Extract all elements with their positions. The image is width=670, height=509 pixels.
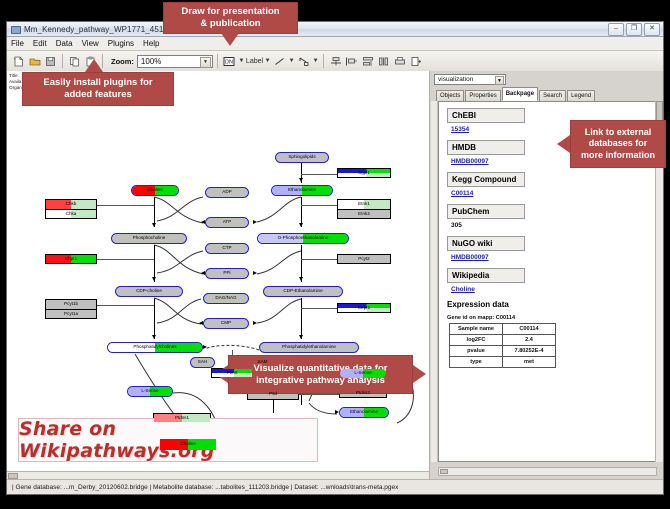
node-phosphatidylcholines[interactable]: Phosphatidylcholines: [107, 342, 203, 353]
menu-item-file[interactable]: File: [11, 39, 24, 48]
toolbar-separator: [217, 54, 218, 68]
cell-key: log2FC: [450, 335, 503, 346]
chevron-down-icon[interactable]: ▼: [312, 58, 319, 64]
node-label: SAM: [258, 360, 268, 365]
connector-sgpl1: [301, 174, 337, 175]
arrowhead: [203, 345, 207, 349]
table-row: pvalue 7.80252E-4: [450, 346, 556, 357]
screenshot-root: Mm_Kennedy_pathway_WP1771_45176.gpml – ❐…: [0, 0, 670, 509]
connector-cept1: [301, 308, 337, 309]
menu-item-plugins[interactable]: Plugins: [108, 39, 134, 48]
node-label: Ptdss2: [356, 391, 370, 396]
node-sgpl1[interactable]: Sgpl1: [337, 168, 391, 178]
cell-value: met: [503, 357, 556, 368]
node-label: Pcyt1a: [64, 312, 78, 317]
zoom-value: 100%: [141, 57, 161, 66]
node-label: Phosphatidylethanolamine: [282, 345, 336, 350]
connector-etnk: [301, 205, 337, 206]
toolbar-separator: [62, 54, 63, 68]
arrowhead: [201, 220, 205, 224]
node-pcyt1a[interactable]: Pcyt1a: [45, 309, 97, 319]
cell-key: type: [450, 357, 503, 368]
arrowhead: [253, 220, 257, 224]
node-label: Sgpl1: [358, 171, 370, 176]
label-tool-button[interactable]: Label: [246, 58, 263, 65]
node-label: Pemt: [227, 371, 238, 376]
callout-draw-tail: [221, 33, 239, 46]
visualization-value: visualization: [438, 76, 473, 83]
node-label: CMP: [221, 321, 231, 326]
status-bar-text: | Gene database: ...m_Derby_20120602.bri…: [12, 484, 398, 491]
node-label: ADP: [222, 190, 231, 195]
chevron-down-icon[interactable]: ▼: [495, 76, 504, 85]
node-choline-selected[interactable]: Choline: [159, 438, 217, 451]
connector-pcyt1: [97, 305, 154, 306]
menu-item-edit[interactable]: Edit: [33, 39, 47, 48]
node-label: Cept1: [358, 306, 370, 311]
node-label: Etnk2: [358, 212, 370, 217]
node-atp[interactable]: ATP: [205, 217, 249, 228]
arrowhead: [253, 271, 257, 275]
callout-plugins-line2: added features: [64, 89, 132, 101]
cell-value: 7.80252E-4: [503, 346, 556, 357]
tab-search[interactable]: Search: [539, 90, 566, 101]
table-row: type met: [450, 357, 556, 368]
db-name-pubchem: PubChem: [447, 204, 525, 219]
align-distribute-icon[interactable]: [360, 54, 375, 69]
node-cmp[interactable]: CMP: [203, 318, 249, 329]
cell-value: C00114: [503, 324, 556, 335]
side-panel-left-scroll[interactable]: [431, 101, 438, 462]
arrowhead: [299, 335, 303, 339]
chevron-down-icon[interactable]: ▼: [238, 58, 245, 64]
node-pcyt1b[interactable]: Pcyt1b: [45, 299, 97, 309]
node-label: Psd: [269, 392, 277, 397]
window-controls: – ❐ ✕: [608, 23, 660, 36]
callout-links: Link to external databases for more info…: [570, 120, 666, 168]
arrowhead: [201, 271, 205, 275]
node-label: Pcyt1b: [64, 302, 78, 307]
close-button[interactable]: ✕: [644, 23, 660, 36]
tab-backpage[interactable]: Backpage: [502, 87, 538, 101]
node-o-phosphoethanolamine[interactable]: O-Phosphoethanolamine: [257, 233, 349, 244]
line-tool-icon[interactable]: [272, 54, 287, 69]
toolbar: Zoom: 100% ▼ DN ▼ Label ▼ ▼ ▼: [7, 51, 663, 72]
node-chkb[interactable]: Chkb: [45, 199, 97, 209]
connector-chpt1: [97, 259, 154, 260]
node-chka[interactable]: Chka: [45, 209, 97, 219]
align-left-icon[interactable]: [344, 54, 359, 69]
node-ethanolamine[interactable]: Ethanolamine: [271, 185, 333, 196]
backpage-horizontal-scrollbar[interactable]: [438, 467, 657, 476]
zoom-combobox[interactable]: 100% ▼: [137, 55, 213, 68]
toolbar-separator: [323, 54, 324, 68]
connector-ptdss2: [299, 394, 339, 395]
shape-tool-icon[interactable]: [296, 54, 311, 69]
svg-text:DN: DN: [225, 59, 233, 65]
node-label: DAG/NAG: [215, 296, 236, 301]
arrowhead: [199, 321, 203, 325]
node-ptdss1[interactable]: Ptdss1: [153, 413, 211, 423]
node-label: Chka: [66, 212, 77, 217]
node-label: CDP-choline: [136, 289, 162, 294]
node-l-serine-right[interactable]: L-Serine: [339, 368, 387, 379]
node-label: ATP: [223, 220, 232, 225]
arrowhead: [299, 178, 303, 182]
db-link-kegg-compound[interactable]: C00114: [451, 190, 648, 197]
callout-draw-line1: Draw for presentation: [181, 6, 279, 18]
node-cdp-choline[interactable]: CDP-choline: [115, 286, 183, 297]
callout-draw-line2: & publication: [200, 18, 260, 30]
callout-plugins: Easily install plugins for added feature…: [22, 72, 174, 106]
save-icon[interactable]: [43, 54, 58, 69]
menu-bar: File Edit Data View Plugins Help: [7, 37, 663, 51]
table-row: log2FC 2.4: [450, 335, 556, 346]
node-choline-top[interactable]: Choline: [131, 185, 179, 196]
db-name-nugo-wiki: NuGO wiki: [447, 236, 525, 251]
node-chpt1-left[interactable]: Chpt1: [45, 254, 97, 264]
arrowhead: [299, 223, 303, 227]
node-ppi[interactable]: PPi: [205, 268, 249, 279]
scrollbar-thumb[interactable]: [440, 469, 448, 474]
cell-key: Sample name: [450, 324, 503, 335]
node-ctp[interactable]: CTP: [205, 243, 249, 254]
node-label: L-Serine: [354, 371, 371, 376]
callout-plugins-tail: [85, 59, 103, 72]
node-label: PPi: [223, 271, 230, 276]
side-panel-tabs: Objects Properties Backpage Search Legen…: [436, 89, 659, 101]
new-file-icon[interactable]: [11, 54, 26, 69]
node-label: Ethanolamine: [350, 410, 378, 415]
node-label: Ptdss1: [175, 416, 189, 421]
db-value-pubchem: 305: [451, 222, 648, 229]
db-name-kegg-compound: Kegg Compound: [447, 172, 525, 187]
node-label: Ethanolamine: [288, 188, 316, 193]
app-window-icon: [10, 24, 20, 34]
node-label: CDP-Ethanolamine: [283, 289, 322, 294]
node-etnk1[interactable]: Etnk1: [337, 199, 391, 209]
print-icon[interactable]: [392, 54, 407, 69]
node-cdp-ethanolamine[interactable]: CDP-Ethanolamine: [263, 286, 343, 297]
menu-item-help[interactable]: Help: [143, 39, 159, 48]
node-dag-nag[interactable]: DAG/NAG: [203, 293, 249, 304]
db-name-wikipedia: Wikipedia: [447, 268, 525, 283]
node-sphingolipids[interactable]: Sphingolipids: [275, 152, 329, 163]
copy-icon[interactable]: [67, 54, 82, 69]
node-label: Etnk1: [358, 202, 370, 207]
callout-visualize-tail-right: [413, 365, 426, 383]
tab-properties[interactable]: Properties: [465, 90, 500, 101]
node-label: Pcyt2: [358, 257, 370, 262]
tab-objects[interactable]: Objects: [436, 90, 464, 101]
node-cept1[interactable]: Cept1: [337, 303, 391, 313]
node-label: Chkb: [66, 202, 77, 207]
export-icon[interactable]: [408, 54, 423, 69]
db-name-hmdb: HMDB: [447, 140, 525, 155]
cell-key: pvalue: [450, 346, 503, 357]
node-label: Sphingolipids: [288, 155, 315, 160]
title-bar: Mm_Kennedy_pathway_WP1771_45176.gpml – ❐…: [7, 22, 663, 37]
arrowhead: [299, 277, 303, 281]
tab-legend[interactable]: Legend: [567, 90, 595, 101]
maximize-button[interactable]: ❐: [626, 23, 642, 36]
node-sah[interactable]: SAH: [190, 357, 215, 368]
visualization-select[interactable]: visualization ▼: [434, 74, 506, 85]
node-label: Phosphocholine: [133, 236, 166, 241]
node-pcyt2[interactable]: Pcyt2: [337, 254, 391, 264]
node-label: Choline: [147, 188, 163, 193]
node-label: L-Serine: [141, 389, 158, 394]
edge-cdpeth-ptdeth: [301, 298, 302, 339]
node-ethanolamine-bottom[interactable]: Ethanolamine: [339, 407, 389, 418]
chevron-down-icon[interactable]: ▼: [264, 58, 271, 64]
connector-chk: [97, 205, 154, 206]
node-label: SAH: [198, 360, 207, 365]
db-link-nugo-wiki[interactable]: HMDB00097: [451, 254, 648, 261]
node-label: Chpt1: [65, 257, 77, 262]
expression-data-header: Expression data: [447, 300, 648, 309]
db-name-chebi: ChEBI: [447, 108, 525, 123]
db-link-wikipedia[interactable]: Choline: [451, 286, 648, 293]
callout-links-line3: more information: [581, 150, 655, 161]
node-label: O-Phosphoethanolamine: [278, 236, 329, 241]
node-label: CTP: [222, 246, 231, 251]
connector-pcyt2: [301, 259, 337, 260]
gene-id-label: Gene id on mapp: C00114: [447, 315, 648, 321]
chevron-down-icon[interactable]: ▼: [200, 57, 211, 68]
callout-links-tail: [557, 135, 570, 153]
callout-links-line2: databases for: [589, 138, 648, 149]
arrowhead: [253, 321, 257, 325]
node-pemt[interactable]: Pemt: [211, 368, 253, 378]
callout-plugins-line1: Easily install plugins for: [43, 77, 152, 89]
status-bar: | Gene database: ...m_Derby_20120602.bri…: [7, 479, 663, 494]
node-phosphocholine[interactable]: Phosphocholine: [111, 233, 187, 244]
align-width-icon[interactable]: [376, 54, 391, 69]
datanode-tool-icon[interactable]: DN: [222, 54, 237, 69]
node-label: Phosphatidylcholines: [133, 345, 176, 350]
expression-table: Sample name C00114 log2FC 2.4 pvalue 7.8…: [449, 323, 556, 368]
callout-links-line1: Link to external: [585, 127, 652, 138]
menu-item-view[interactable]: View: [82, 39, 99, 48]
minimize-button[interactable]: –: [608, 23, 624, 36]
chevron-down-icon[interactable]: ▼: [288, 58, 295, 64]
cell-value: 2.4: [503, 335, 556, 346]
arrowhead: [335, 410, 339, 414]
table-row: Sample name C00114: [450, 324, 556, 335]
zoom-label: Zoom:: [111, 57, 134, 66]
node-l-serine-left[interactable]: L-Serine: [127, 386, 173, 397]
menu-item-data[interactable]: Data: [56, 39, 73, 48]
callout-draw: Draw for presentation & publication: [163, 2, 298, 34]
node-phosphatidylethanolamine[interactable]: Phosphatidylethanolamine: [259, 342, 359, 353]
node-adp[interactable]: ADP: [205, 187, 249, 198]
open-folder-icon[interactable]: [27, 54, 42, 69]
align-center-icon[interactable]: [328, 54, 343, 69]
node-etnk2[interactable]: Etnk2: [337, 209, 391, 219]
node-label: Choline: [180, 442, 196, 447]
